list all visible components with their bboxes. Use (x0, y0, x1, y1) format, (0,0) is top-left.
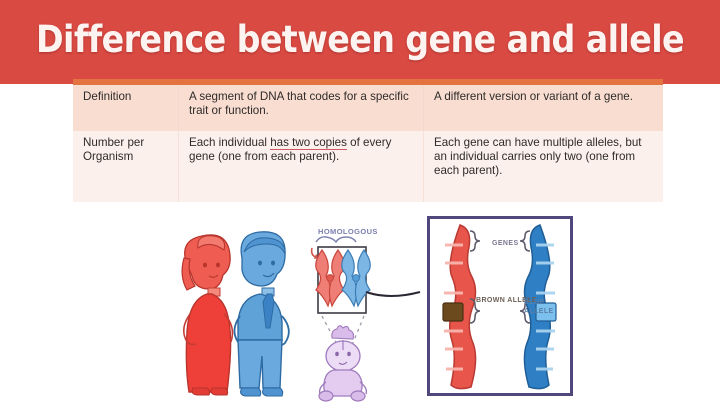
table-row: Number per Organism Each individual has … (73, 131, 663, 202)
parents-illustration (168, 222, 298, 400)
header-banner: Difference between gene and allele (0, 0, 720, 84)
father-figure (234, 232, 288, 396)
gene-definition-cell: A segment of DNA that codes for a specif… (178, 85, 423, 131)
brown-allele-band (443, 303, 463, 321)
genes-label: GENES (492, 240, 519, 249)
gene-number-text-pre: Each individual (189, 136, 270, 149)
page-title: Difference between gene and allele (0, 18, 720, 61)
homologous-pair-group: HOMOLOGOUS (300, 210, 420, 404)
blue-allele-label: BLUE ALLELE (524, 299, 570, 316)
gene-allele-panel: GENES BROWN ALLELE BLUE ALLELE (427, 216, 573, 396)
mother-figure (182, 235, 232, 395)
allele-number-cell: Each gene can have multiple alleles, but… (423, 131, 663, 202)
row-label-definition: Definition (73, 85, 178, 131)
gene-number-cell: Each individual has two copies of every … (178, 131, 423, 202)
child-figure (319, 326, 366, 401)
homologous-label: HOMOLOGOUS (318, 228, 378, 237)
connector-line (366, 292, 420, 296)
genes-bracket-left (470, 231, 480, 251)
gene-number-underlined-text: has two copies (270, 136, 347, 150)
table-row: Definition A segment of DNA that codes f… (73, 85, 663, 131)
illustration-area: HOMOLOGOUS (0, 202, 720, 404)
allele-definition-cell: A different version or variant of a gene… (423, 85, 663, 131)
row-label-number-per-organism: Number per Organism (73, 131, 178, 202)
genes-bracket-right (520, 231, 530, 251)
red-chromatid (443, 225, 476, 389)
chromosome-red (316, 250, 345, 306)
comparison-table: Definition A segment of DNA that codes f… (73, 85, 663, 202)
